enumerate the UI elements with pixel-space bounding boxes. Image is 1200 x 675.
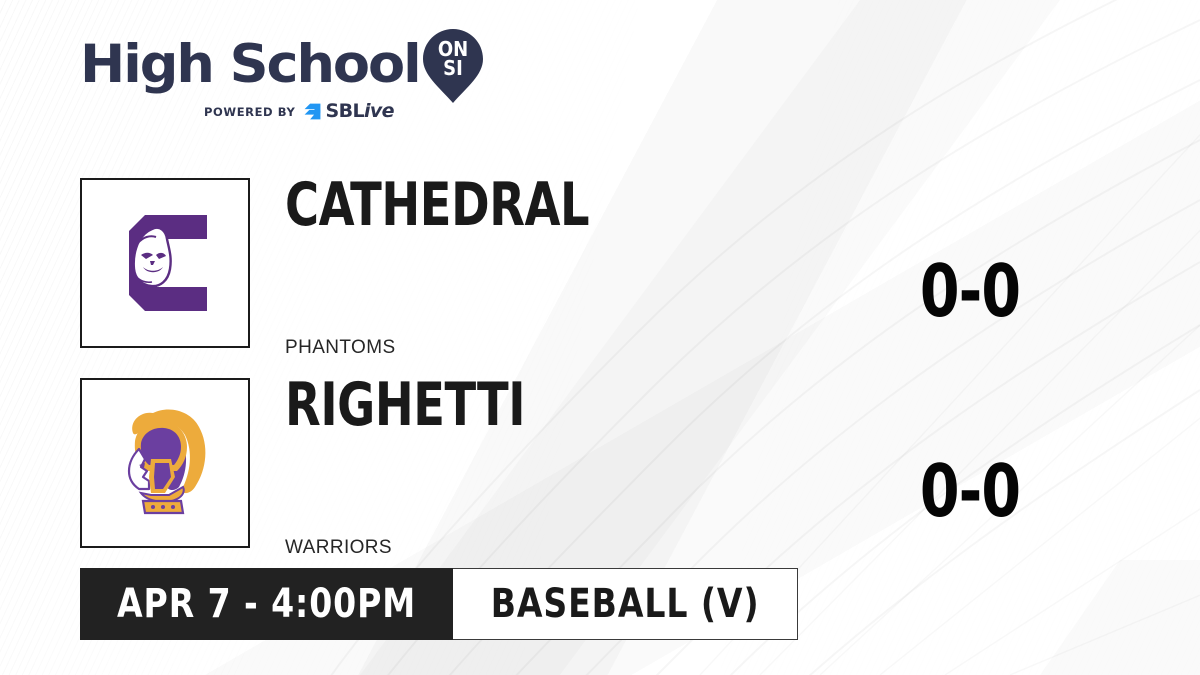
game-sport-text: BASEBALL (V): [491, 583, 760, 625]
team-logo-righetti-warriors: [80, 378, 250, 548]
brand-title-row: High School ON SI: [80, 34, 510, 96]
game-datetime-text: APR 7 - 4:00PM: [117, 583, 416, 625]
team-name-righetti: RIGHETTI: [285, 375, 525, 435]
on-si-pin-icon: ON SI: [423, 29, 483, 103]
team-name-cathedral: CATHEDRAL: [285, 175, 589, 235]
righetti-warriors-logo: [99, 397, 231, 529]
brand-header: High School ON SI POWERED BY SBLive: [80, 34, 510, 134]
matchup-graphic: High School ON SI POWERED BY SBLive: [0, 0, 1200, 675]
team-mascot-phantoms: PHANTOMS: [285, 337, 396, 359]
pin-line-si: SI: [443, 56, 463, 80]
team-record-cathedral: 0-0: [873, 255, 1067, 327]
brand-title: High School: [80, 37, 420, 93]
sblive-s-icon: [303, 102, 322, 121]
game-sport-block: BASEBALL (V): [453, 568, 798, 640]
sblive-logo: SBLive: [303, 102, 393, 121]
powered-by-row: POWERED BY SBLive: [80, 102, 510, 121]
sblive-word-main: SBL: [325, 100, 363, 122]
game-info-bar: APR 7 - 4:00PM BASEBALL (V): [80, 568, 798, 640]
team-mascot-warriors: WARRIORS: [285, 537, 392, 559]
cathedral-phantoms-logo: [99, 197, 231, 329]
sblive-wordmark: SBLive: [325, 102, 393, 121]
sblive-word-italic: ive: [364, 100, 394, 122]
game-datetime-block: APR 7 - 4:00PM: [80, 568, 453, 640]
powered-by-label: POWERED BY: [204, 105, 295, 119]
team-logo-cathedral-phantoms: [80, 178, 250, 348]
team-record-righetti: 0-0: [873, 455, 1067, 527]
